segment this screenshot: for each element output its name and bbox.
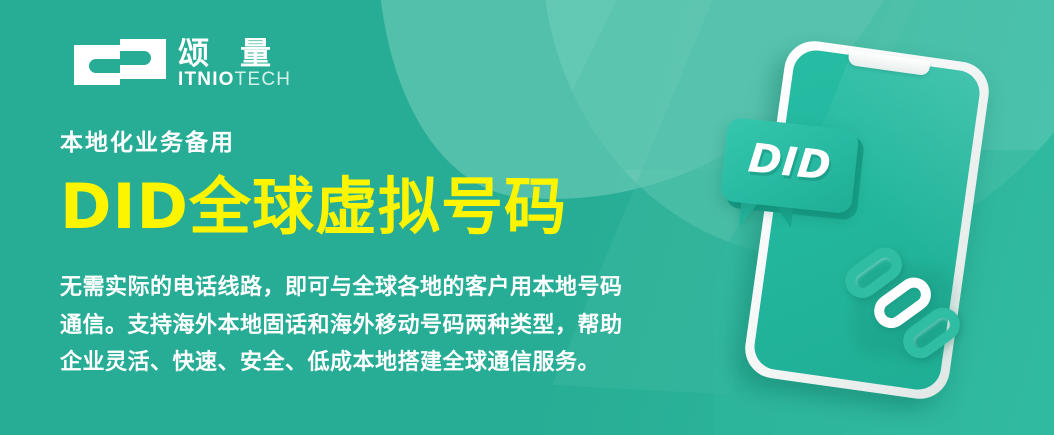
brand-name-en: ITNIOTECH [178,69,291,90]
headline-text: DID全球虚拟号码 [60,174,680,239]
brand-name-en-light: TECH [235,69,292,90]
brand-logo-text: 颂 量 ITNIOTECH [178,38,291,91]
did-speech-bubble: DID [713,116,874,243]
did-promo-banner: 颂 量 ITNIOTECH 本地化业务备用 DID全球虚拟号码 无需实际的电话线… [0,0,1054,435]
chain-link-logo-icon [74,33,166,91]
eyebrow-text: 本地化业务备用 [60,130,680,158]
body-line-3: 企业灵活、快速、安全、低成本地搭建全球通信服务。 [60,344,680,382]
body-copy: 无需实际的电话线路，即可与全球各地的客户用本地号码 通信。支持海外本地固话和海外… [60,269,680,382]
body-line-1: 无需实际的电话线路，即可与全球各地的客户用本地号码 [60,269,680,307]
body-line-2: 通信。支持海外本地固话和海外移动号码两种类型，帮助 [60,307,680,345]
brand-char-2: 量 [240,38,272,71]
hero-illustration: DID [712,28,1042,428]
brand-name-en-bold: ITNIO [178,69,235,90]
brand-char-1: 颂 [178,38,210,71]
bubble-body: DID [719,117,859,214]
chain-links-illustration [836,252,973,371]
brand-name-cn: 颂 量 [178,38,291,71]
banner-copy-block: 本地化业务备用 DID全球虚拟号码 无需实际的电话线路，即可与全球各地的客户用本… [60,130,680,382]
bubble-label: DID [722,133,858,193]
brand-logo[interactable]: 颂 量 ITNIOTECH [74,33,291,91]
